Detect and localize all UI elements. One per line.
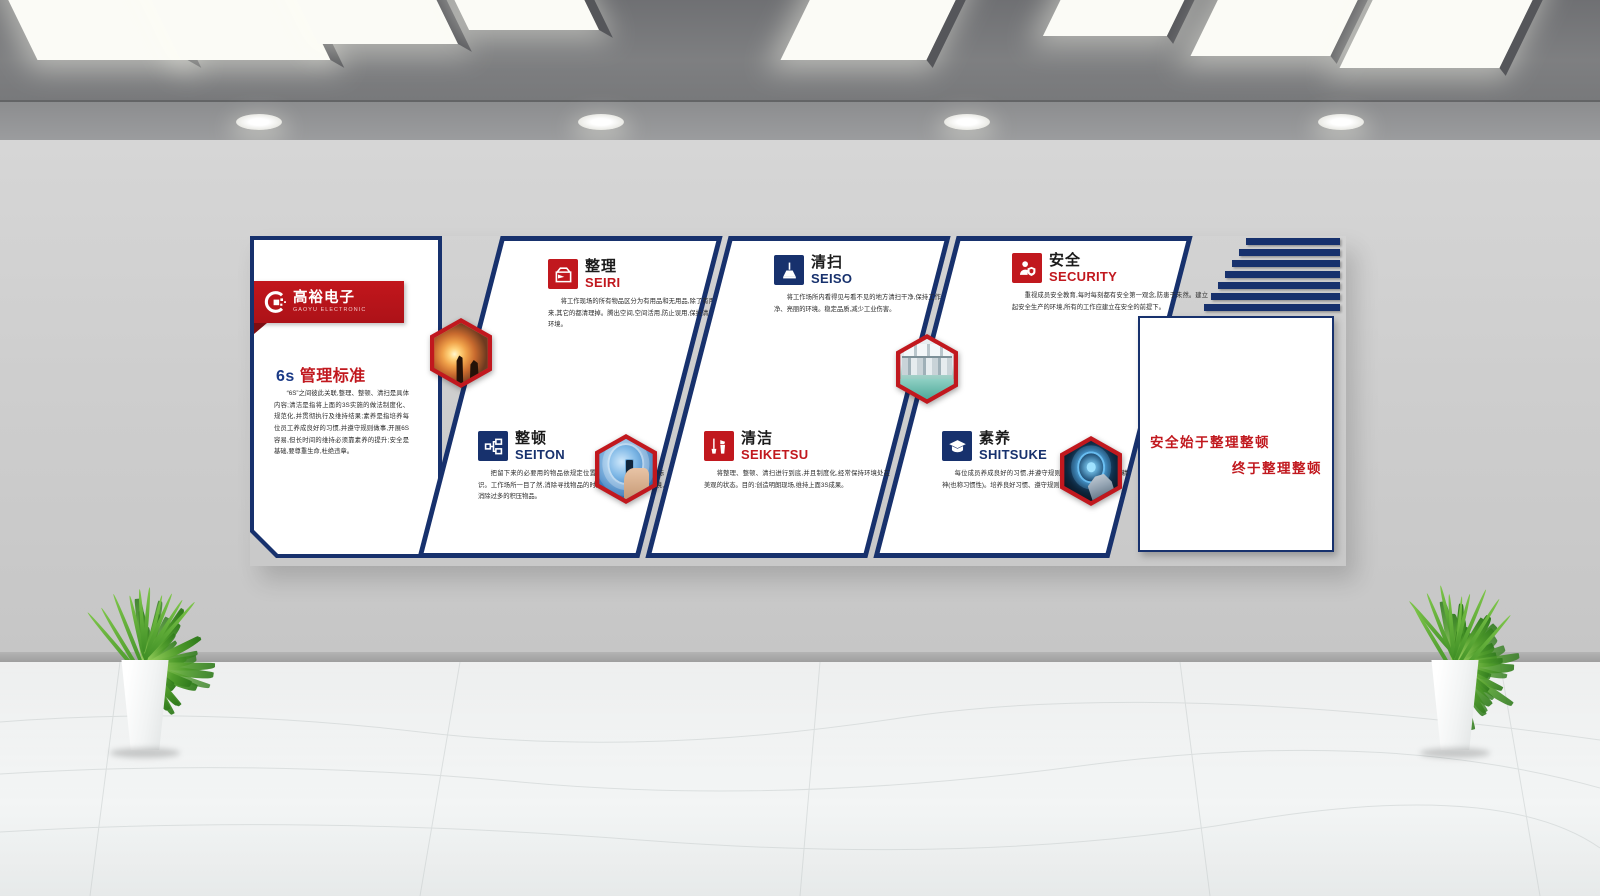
potted-plant-right: [1370, 560, 1540, 720]
decor-stripe: [1218, 282, 1340, 289]
ceiling-panel-light: [1043, 0, 1201, 36]
decor-stripe: [1225, 271, 1340, 278]
open-box-icon: [548, 259, 578, 289]
gaoyu-g-swoosh-logo-icon: [262, 289, 288, 315]
ceiling-downlight: [944, 114, 990, 130]
panel-slogan-wrap: 安全始于整理整顿 终于整理整顿: [1150, 236, 1340, 558]
decor-stripe: [1246, 238, 1340, 245]
ceiling-downlight: [578, 114, 624, 130]
section-title-en: SEIRI: [585, 276, 620, 289]
section-title-en: SEITON: [515, 448, 565, 461]
section-seiketsu: 清洁 SEIKETSU 将整理、整顿、清扫进行到底,并且制度化,经常保持环境处在…: [704, 431, 890, 491]
broom-icon: [774, 255, 804, 285]
section-title-en: SHITSUKE: [979, 448, 1047, 461]
panel-intro-inner: 高裕电子 GAOYU ELECTRONIC 6s 管理标准 “6S”之间彼此关联…: [254, 240, 438, 554]
sunset-teamwork-photo: [430, 318, 492, 388]
slogan-box: 安全始于整理整顿 终于整理整顿: [1138, 316, 1334, 552]
section-title-cn: 清扫: [811, 255, 852, 270]
page-title: 6s 管理标准: [276, 362, 416, 386]
decor-stripe: [1239, 249, 1340, 256]
graduation-cap-icon: [942, 431, 972, 461]
ceiling-panel-light: [1190, 0, 1369, 56]
plant-shadow: [110, 748, 180, 758]
ceiling-panel-light: [780, 0, 965, 60]
intro-paragraph: “6S”之间彼此关联,整理、整顿、清扫是具体内容;清洁是指将上面的3S实施的做法…: [274, 388, 409, 458]
ceiling-panel-light: [1340, 0, 1541, 68]
title-number: 6s: [276, 368, 295, 385]
ceiling-downlight: [236, 114, 282, 130]
section-title-en: SEISO: [811, 272, 852, 285]
decor-stripes: [1198, 236, 1340, 314]
hand-holding-phone-tech-photo: [595, 434, 657, 504]
section-title-cn: 整顿: [515, 431, 565, 446]
company-name-en: GAOYU ELECTRONIC: [293, 308, 366, 313]
room-scene: 高裕电子 GAOYU ELECTRONIC 6s 管理标准 “6S”之间彼此关联…: [0, 0, 1600, 896]
section-title-cn: 素养: [979, 431, 1047, 446]
organize-blocks-icon: [478, 431, 508, 461]
decor-stripe: [1232, 260, 1340, 267]
floor-veins: [0, 662, 1600, 896]
mop-and-bucket-icon: [704, 431, 734, 461]
ceiling-downlight: [1318, 114, 1364, 130]
section-title-cn: 安全: [1049, 253, 1117, 268]
clean-factory-workshop-photo: [896, 334, 958, 404]
robot-ai-hand-photo: [1060, 436, 1122, 506]
decor-stripe: [1211, 293, 1340, 300]
section-title-cn: 清洁: [741, 431, 808, 446]
decor-stripe: [1204, 304, 1340, 311]
company-logo-banner: 高裕电子 GAOYU ELECTRONIC: [254, 281, 404, 323]
section-title-en: SEIKETSU: [741, 448, 808, 461]
slogan-line-2: 终于整理整顿: [1140, 456, 1322, 482]
marble-floor: [0, 662, 1600, 896]
section-title-en: SECURITY: [1049, 270, 1117, 283]
section-text: 将整理、整顿、清扫进行到底,并且制度化,经常保持环境处在美观的状态。目的:创造明…: [704, 468, 890, 491]
section-title-cn: 整理: [585, 259, 620, 274]
plant-shadow: [1420, 748, 1490, 758]
title-text: 管理标准: [300, 368, 366, 385]
slogan-line-1: 安全始于整理整顿: [1140, 430, 1322, 456]
potted-plant-left: [60, 560, 230, 720]
company-name-cn: 高裕电子: [293, 291, 366, 306]
slogan: 安全始于整理整顿 终于整理整顿: [1140, 430, 1322, 481]
culture-wall-board: 高裕电子 GAOYU ELECTRONIC 6s 管理标准 “6S”之间彼此关联…: [250, 236, 1340, 558]
person-shield-icon: [1012, 253, 1042, 283]
wall-floor-edge: [0, 652, 1600, 662]
